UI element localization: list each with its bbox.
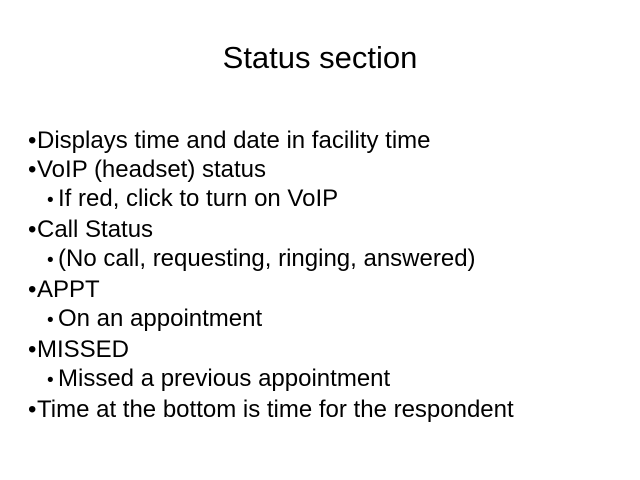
bullet-point-icon: • xyxy=(28,275,37,304)
bullet-item: •Displays time and date in facility time xyxy=(28,126,618,155)
bullet-point-icon: • xyxy=(47,186,58,215)
bullet-item-label: Time at the bottom is time for the respo… xyxy=(37,396,514,423)
bullet-item-label: (No call, requesting, ringing, answered) xyxy=(58,245,476,272)
bullet-item-label: On an appointment xyxy=(58,305,262,332)
bullet-item: •Missed a previous appointment xyxy=(28,364,618,395)
slide-canvas: Status section •Displays time and date i… xyxy=(0,0,640,480)
bullet-item: •MISSED xyxy=(28,335,618,364)
bullet-point-icon: • xyxy=(28,126,37,155)
bullet-item-label: MISSED xyxy=(37,336,129,363)
bullet-point-icon: • xyxy=(47,246,58,275)
bullet-item: •Call Status xyxy=(28,215,618,244)
bullet-point-icon: • xyxy=(28,155,37,184)
bullet-item: •On an appointment xyxy=(28,304,618,335)
bullet-item-label: Missed a previous appointment xyxy=(58,365,390,392)
bullet-point-icon: • xyxy=(28,335,37,364)
page-title: Status section xyxy=(0,40,640,76)
bullet-point-icon: • xyxy=(47,366,58,395)
bullet-item-label: APPT xyxy=(37,276,100,303)
bullet-item: •VoIP (headset) status xyxy=(28,155,618,184)
bullet-item-label: Displays time and date in facility time xyxy=(37,127,431,154)
bullet-point-icon: • xyxy=(28,395,37,424)
bullet-item: •(No call, requesting, ringing, answered… xyxy=(28,244,618,275)
bullet-point-icon: • xyxy=(28,215,37,244)
bullet-item-label: Call Status xyxy=(37,216,153,243)
bullet-item: •Time at the bottom is time for the resp… xyxy=(28,395,618,424)
bullet-item: •If red, click to turn on VoIP xyxy=(28,184,618,215)
bullet-item: •APPT xyxy=(28,275,618,304)
slide-body-list: •Displays time and date in facility time… xyxy=(28,126,618,424)
bullet-point-icon: • xyxy=(47,306,58,335)
bullet-item-label: If red, click to turn on VoIP xyxy=(58,185,338,212)
bullet-item-label: VoIP (headset) status xyxy=(37,156,266,183)
